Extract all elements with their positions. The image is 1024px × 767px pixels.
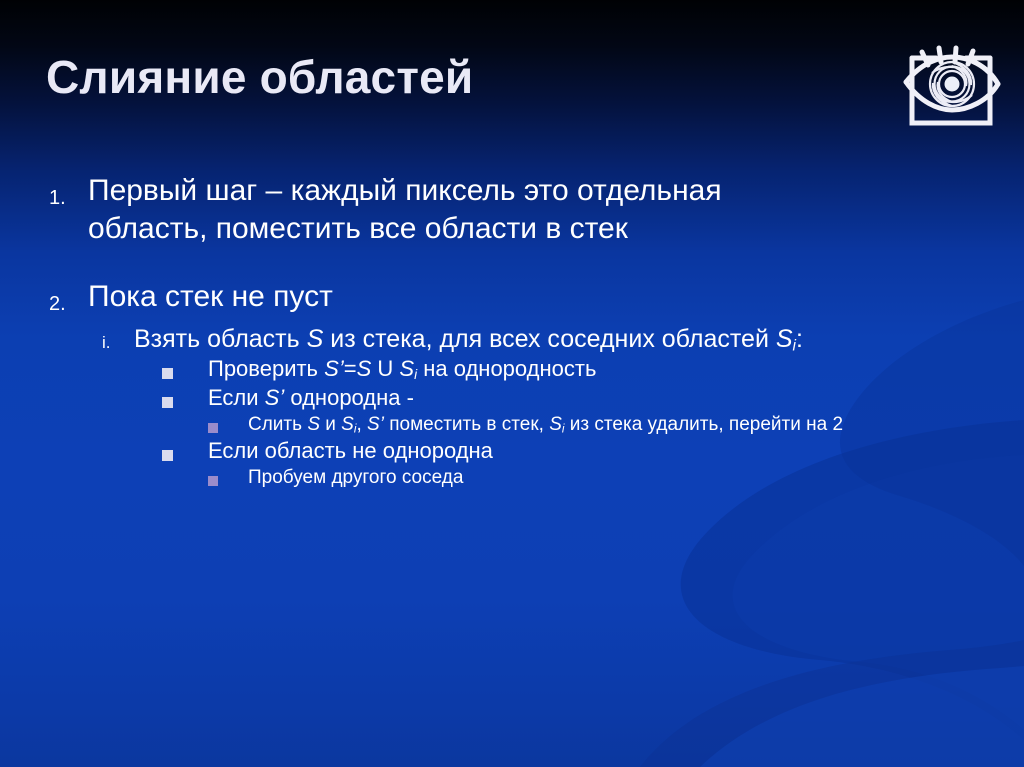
list-text-if-homogeneous: Если S’ однородна - <box>208 384 414 413</box>
presentation-slide: Слияние областей <box>0 0 1024 767</box>
text-part: Слить <box>248 414 307 435</box>
list-item-1: 1. Первый шаг – каждый пиксель это отдел… <box>40 172 1012 248</box>
list-marker-1: 1. <box>40 172 88 212</box>
square-bullet-icon <box>208 413 248 433</box>
list-marker-2: 2. <box>40 278 88 318</box>
square-bullet-icon <box>162 384 208 408</box>
page-title: Слияние областей <box>46 52 866 103</box>
text-part: : <box>796 325 803 353</box>
slide-body: 1. Первый шаг – каждый пиксель это отдел… <box>40 172 1012 490</box>
text-part: однородна - <box>284 385 414 410</box>
list-item-merge: Слить S и Si, S’ поместить в стек, Si из… <box>208 413 1012 437</box>
list-item-if-not-homogeneous: Если область не однородна <box>162 437 1012 466</box>
text-part: Проверить <box>208 356 324 381</box>
text-part: Если <box>208 385 265 410</box>
list-text-merge: Слить S и Si, S’ поместить в стек, Si из… <box>248 413 843 437</box>
square-bullet-icon <box>162 355 208 379</box>
text-part: , <box>356 414 367 435</box>
text-part: и <box>320 414 341 435</box>
title-area: Слияние областей <box>46 52 866 103</box>
text-part: на однородность <box>417 356 596 381</box>
list-item-if-homogeneous: Если S’ однородна - <box>162 384 1012 413</box>
square-bullet-icon <box>208 466 248 486</box>
list-item-check-homogeneity: Проверить S’=S U Si на однородность <box>162 355 1012 384</box>
text-part: Взять область <box>134 325 307 353</box>
variable-si: S <box>776 325 793 353</box>
list-text-2: Пока стек не пуст <box>88 278 333 316</box>
variable-s-prime: S’ <box>367 414 384 435</box>
text-part: поместить в стек, <box>384 414 549 435</box>
text-part: из стека, для всех соседних областей <box>323 325 776 353</box>
list-text-if-not-homogeneous: Если область не однородна <box>208 437 493 466</box>
variable-si: S <box>549 414 562 435</box>
list-item-2: 2. Пока стек не пуст <box>40 278 1012 318</box>
eye-logo-icon <box>892 28 1010 136</box>
text-part: из стека удалить, перейти на 2 <box>565 414 844 435</box>
list-item-2i: i. Взять область S из стека, для всех со… <box>96 324 1012 356</box>
list-text-2i: Взять область S из стека, для всех сосед… <box>134 324 803 356</box>
list-text-1: Первый шаг – каждый пиксель это отдельна… <box>88 172 748 248</box>
variable-si: S <box>399 356 414 381</box>
list-text-try-another-neighbor: Пробуем другого соседа <box>248 466 463 490</box>
variable-s: S <box>307 414 320 435</box>
square-bullet-icon <box>162 437 208 461</box>
variable-s: S <box>357 356 372 381</box>
variable-s: S <box>307 325 324 353</box>
list-item-try-another-neighbor: Пробуем другого соседа <box>208 466 1012 490</box>
spacer <box>40 248 1012 278</box>
text-part: U <box>371 356 399 381</box>
variable-si: S <box>341 414 354 435</box>
variable-s-prime: S’ <box>324 356 344 381</box>
list-marker-2i: i. <box>96 324 134 354</box>
variable-s-prime: S’ <box>265 385 285 410</box>
text-part: = <box>344 356 357 381</box>
list-text-check-homogeneity: Проверить S’=S U Si на однородность <box>208 355 596 384</box>
